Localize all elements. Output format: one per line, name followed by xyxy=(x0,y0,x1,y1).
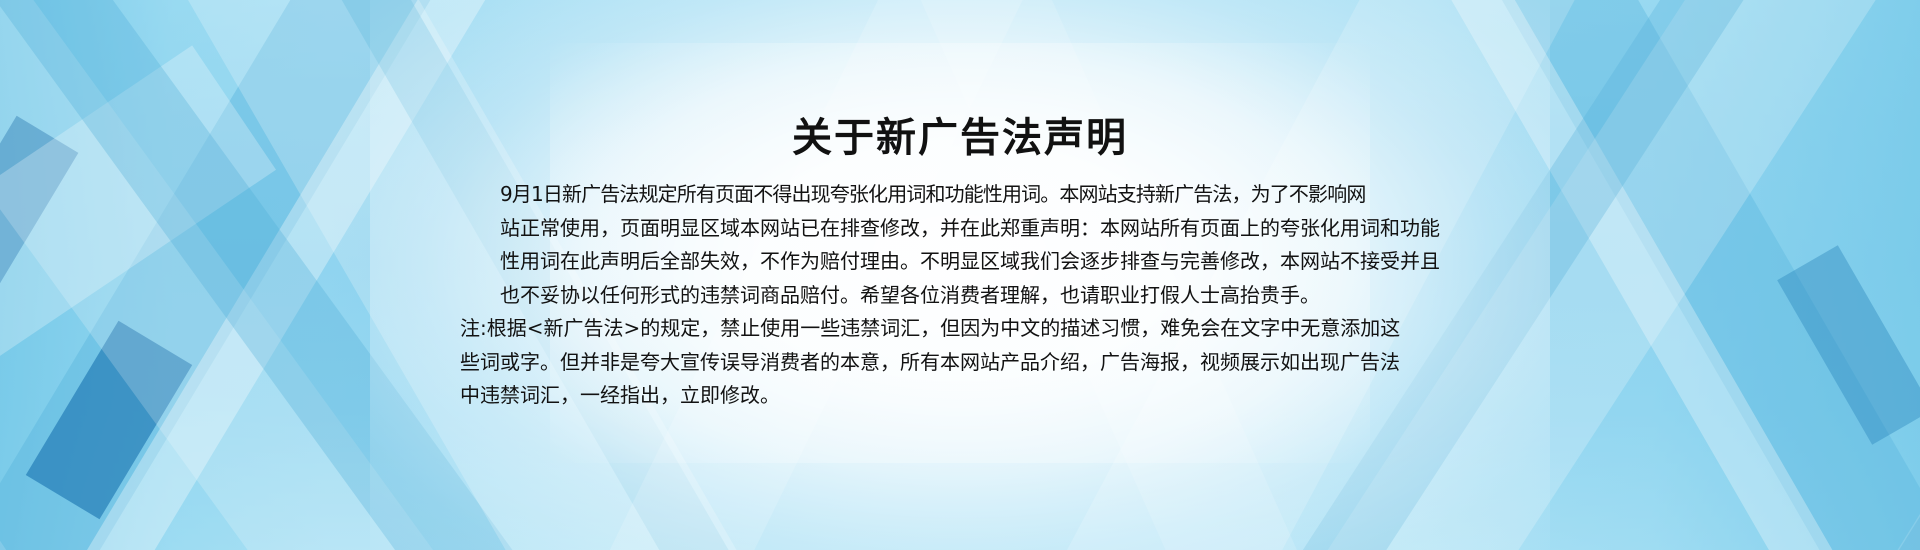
statement-content: 关于新广告法声明 9月1日新广告法规定所有页面不得出现夸张化用词和功能性用词。本… xyxy=(460,0,1460,550)
paragraph-2-line-2: 些词或字。但并非是夸大宣传误导消费者的本意，所有本网站产品介绍，广告海报，视频展… xyxy=(460,346,1460,380)
statement-paragraph-2: 注:根据<新广告法>的规定，禁止使用一些违禁词汇，但因为中文的描述习惯，难免会在… xyxy=(460,312,1460,413)
advertising-law-statement-banner: 关于新广告法声明 9月1日新广告法规定所有页面不得出现夸张化用词和功能性用词。本… xyxy=(0,0,1920,550)
paragraph-2-line-3: 中违禁词汇，一经指出，立即修改。 xyxy=(460,379,1460,413)
page-title: 关于新广告法声明 xyxy=(460,115,1460,161)
statement-body: 9月1日新广告法规定所有页面不得出现夸张化用词和功能性用词。本网站支持新广告法，… xyxy=(460,178,1460,413)
paragraph-1-line-2: 站正常使用，页面明显区域本网站已在排查修改，并在此郑重声明：本网站所有页面上的夸… xyxy=(460,212,1460,246)
paragraph-1-line-3: 性用词在此声明后全部失效，不作为赔付理由。不明显区域我们会逐步排查与完善修改，本… xyxy=(460,245,1460,279)
statement-paragraph-1: 9月1日新广告法规定所有页面不得出现夸张化用词和功能性用词。本网站支持新广告法，… xyxy=(460,178,1460,312)
paragraph-2-line-1: 注:根据<新广告法>的规定，禁止使用一些违禁词汇，但因为中文的描述习惯，难免会在… xyxy=(460,312,1460,346)
paragraph-1-line-1: 9月1日新广告法规定所有页面不得出现夸张化用词和功能性用词。本网站支持新广告法，… xyxy=(460,178,1460,212)
paragraph-1-line-4: 也不妥协以任何形式的违禁词商品赔付。希望各位消费者理解，也请职业打假人士高抬贵手… xyxy=(460,279,1460,313)
